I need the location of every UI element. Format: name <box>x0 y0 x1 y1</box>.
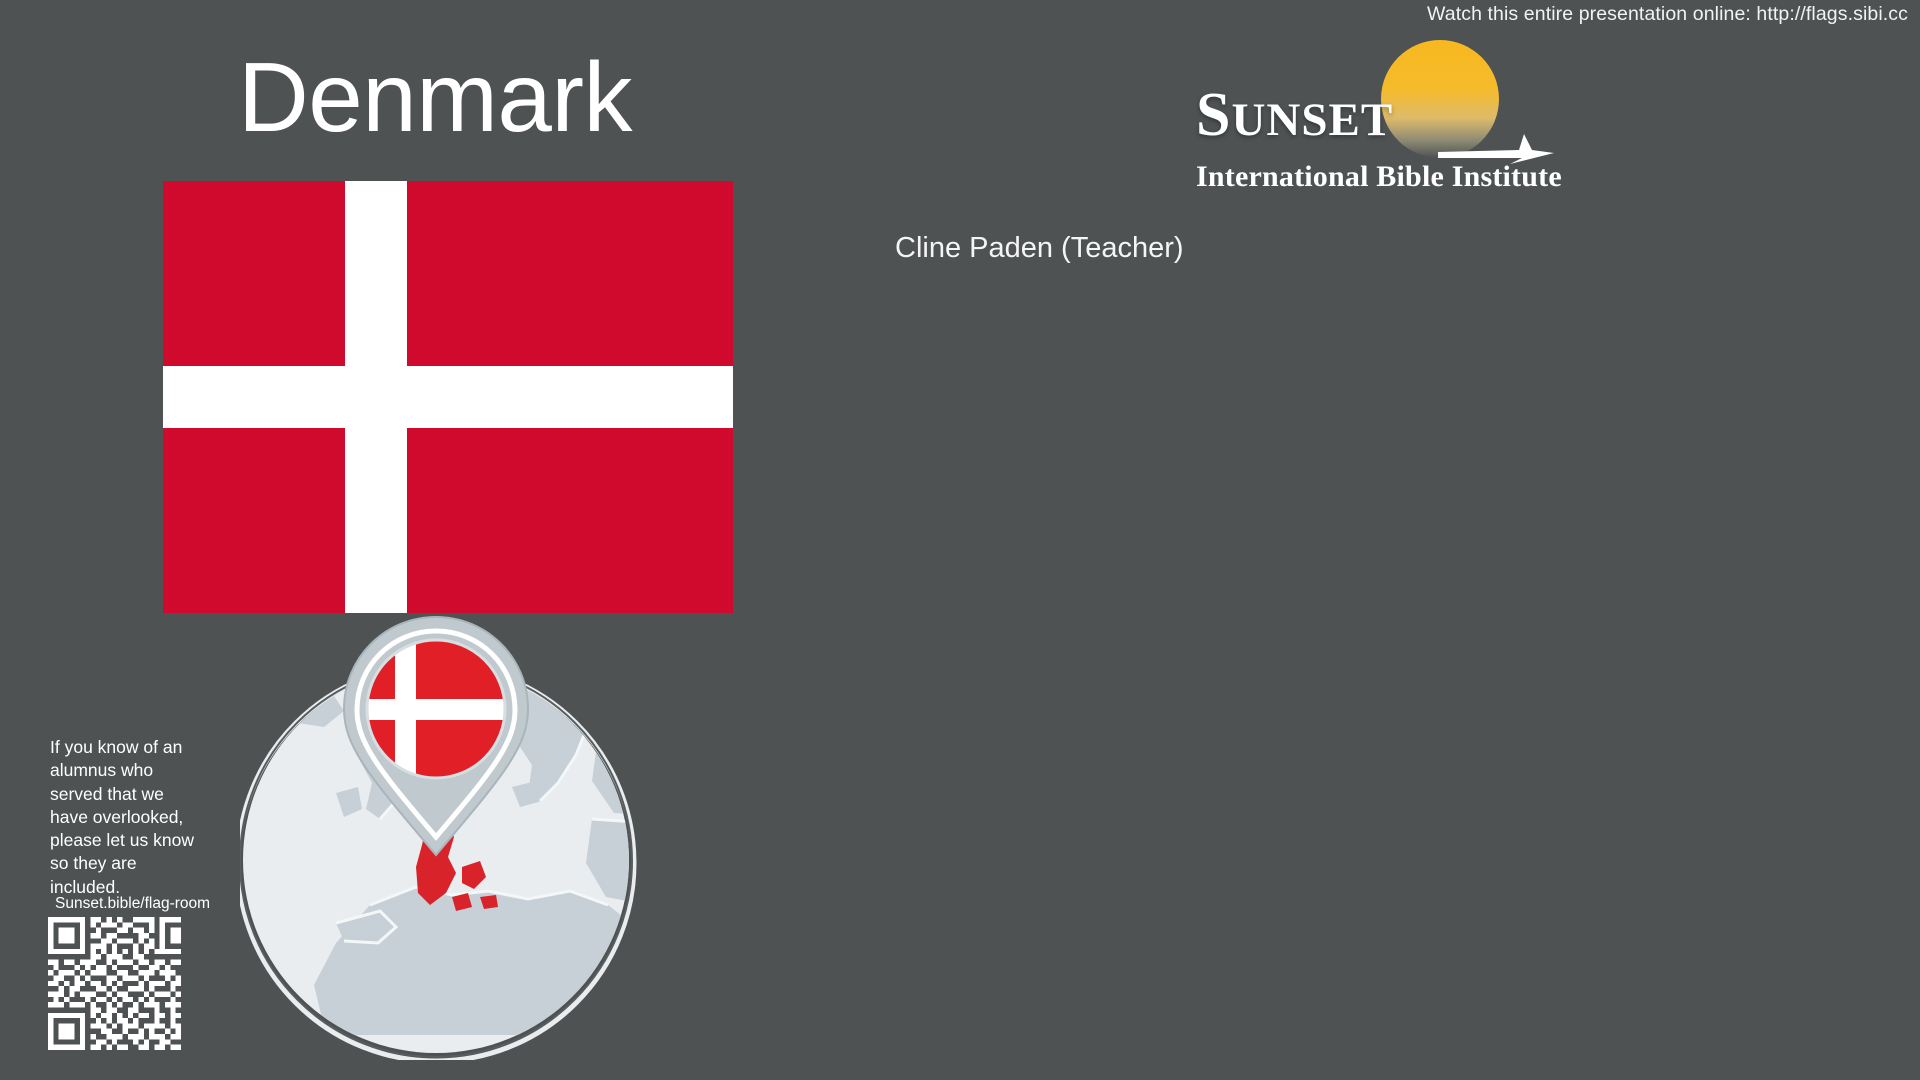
logo-wordmark-rest: UNSET <box>1231 94 1393 146</box>
watch-online-text: Watch this entire presentation online: h… <box>1427 3 1908 26</box>
page-title: Denmark <box>238 48 632 146</box>
flag-room-link[interactable]: Sunset.bible/flag-room <box>55 895 210 913</box>
logo-wordmark: SUNSET <box>1196 84 1393 146</box>
qr-code-icon[interactable] <box>48 917 181 1050</box>
flag-cross-horizontal-band <box>163 366 733 428</box>
flag-of-denmark <box>163 181 733 613</box>
teacher-name: Cline Paden (Teacher) <box>895 232 1184 265</box>
globe-denmark-graphic <box>240 605 650 1060</box>
logo-tagline: International Bible Institute <box>1196 162 1562 192</box>
alumnus-note-text: If you know of an alumnus who served tha… <box>50 736 200 899</box>
logo-wordmark-initial: S <box>1196 81 1231 149</box>
slide-root: Watch this entire presentation online: h… <box>0 0 1920 1080</box>
sunset-logo: SUNSET International Bible Institute <box>1196 40 1586 190</box>
